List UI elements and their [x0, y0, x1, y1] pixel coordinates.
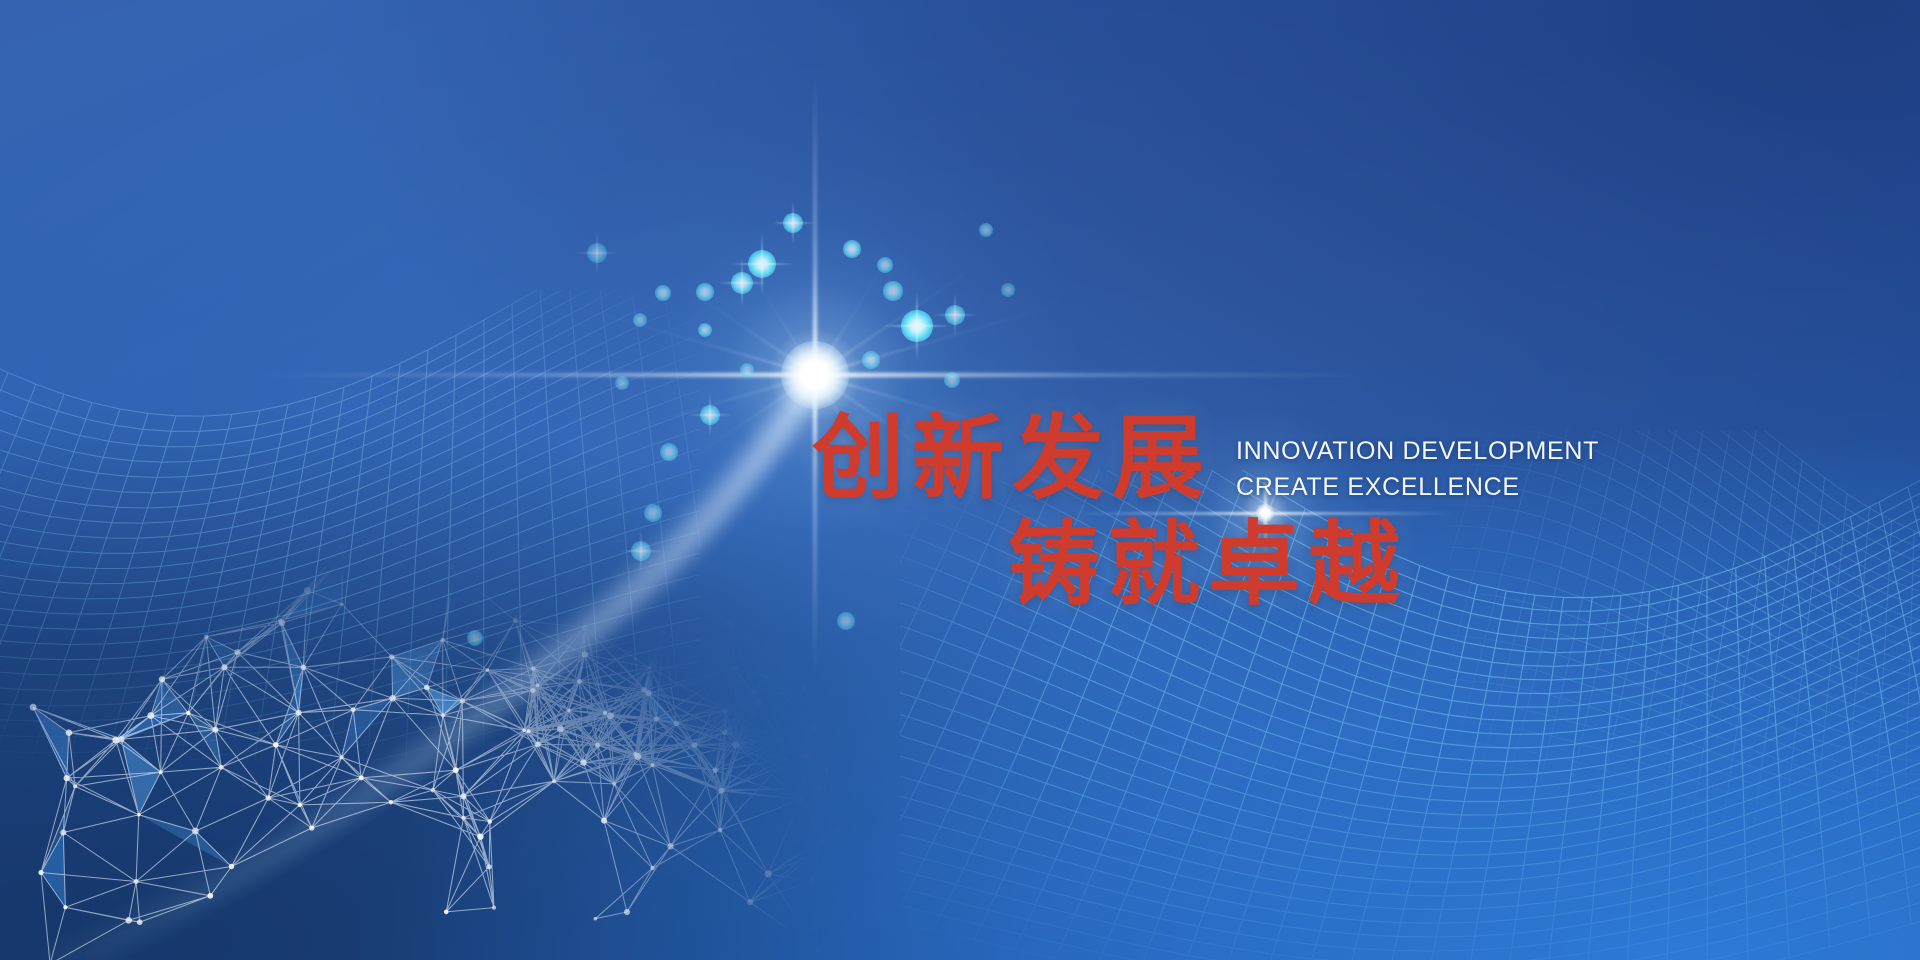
vignette-overlay: [0, 0, 1920, 960]
banner-root: 创新发展 铸就卓越 INNOVATION DEVELOPMENT CREATE …: [0, 0, 1920, 960]
